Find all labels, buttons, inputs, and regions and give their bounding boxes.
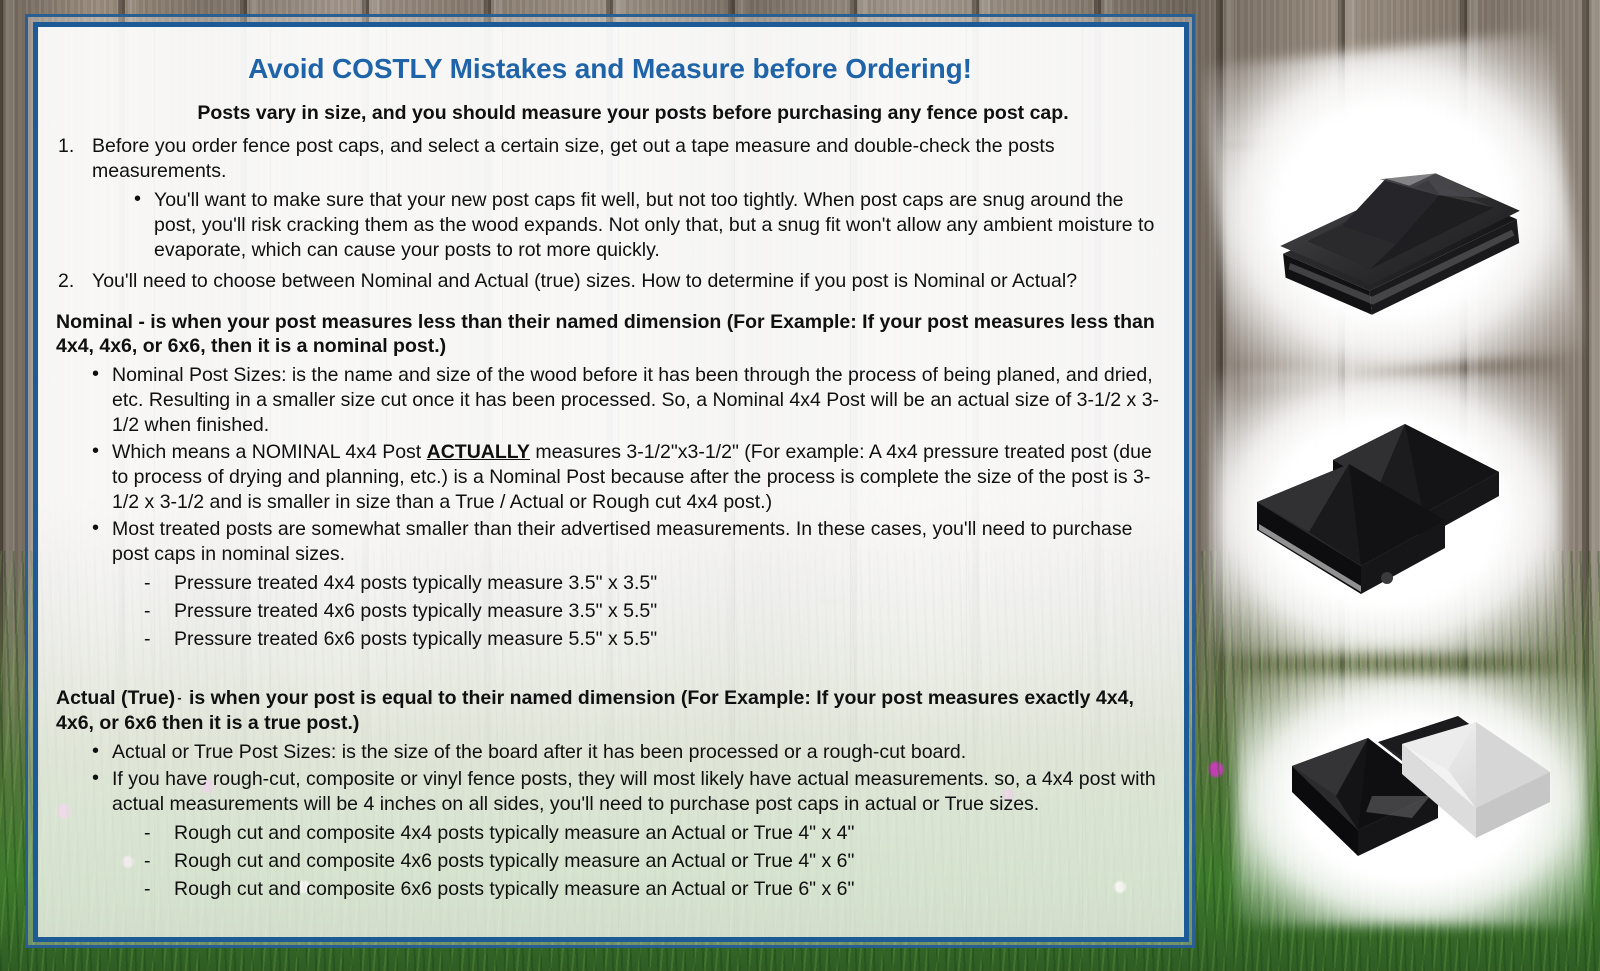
list-item: • Nominal Post Sizes: is the name and si… bbox=[50, 363, 1170, 438]
list-marker: 1. bbox=[58, 134, 88, 159]
list-item: • Most treated posts are somewhat smalle… bbox=[50, 517, 1170, 567]
actual-heading-lead: Actual (True) bbox=[56, 687, 175, 709]
black-pyramid-post-caps-icon bbox=[1237, 398, 1537, 628]
bullet-dot-icon: • bbox=[92, 739, 99, 765]
list-item: - Rough cut and composite 6x6 posts typi… bbox=[50, 877, 1170, 902]
dash-text: Rough cut and composite 6x6 posts typica… bbox=[174, 878, 854, 900]
bullet-text: Nominal Post Sizes: is the name and size… bbox=[112, 364, 1159, 436]
black-and-white-pyramid-caps-icon bbox=[1262, 700, 1562, 900]
product-photo-black-pyramid-caps bbox=[1237, 398, 1537, 628]
numbered-item-text: You'll need to choose between Nominal an… bbox=[92, 270, 1077, 292]
actual-heading: Actual (True)- is when your post is equa… bbox=[50, 686, 1170, 736]
list-item: - Rough cut and composite 4x4 posts typi… bbox=[50, 821, 1170, 846]
list-item: • If you have rough-cut, composite or vi… bbox=[50, 767, 1170, 817]
product-photo-black-white-pyramid-caps bbox=[1262, 700, 1562, 900]
document-content: Avoid COSTLY Mistakes and Measure before… bbox=[38, 27, 1184, 937]
nominal-bullet-list: • Nominal Post Sizes: is the name and si… bbox=[50, 363, 1170, 567]
actual-heading-rest: is when your post is equal to their name… bbox=[56, 687, 1134, 734]
infographic-stage: Avoid COSTLY Mistakes and Measure before… bbox=[0, 0, 1600, 971]
bullet-dot-icon: • bbox=[134, 187, 141, 213]
bullet-text-pre: Which means a NOMINAL 4x4 Post bbox=[112, 441, 427, 463]
nominal-heading: Nominal - is when your post measures les… bbox=[50, 310, 1170, 360]
numbered-list: 1. Before you order fence post caps, and… bbox=[50, 134, 1170, 294]
list-item: • Which means a NOMINAL 4x4 Post ACTUALL… bbox=[50, 440, 1170, 515]
list-item: • You'll want to make sure that your new… bbox=[92, 188, 1170, 263]
actual-heading-dash: - bbox=[175, 690, 183, 705]
bullet-text: You'll want to make sure that your new p… bbox=[154, 189, 1154, 261]
numbered-item-text: Before you order fence post caps, and se… bbox=[92, 135, 1055, 182]
sub-bullet-list: • You'll want to make sure that your new… bbox=[92, 188, 1170, 263]
dash-marker-icon: - bbox=[144, 571, 151, 596]
bullet-dot-icon: • bbox=[92, 439, 99, 465]
dash-text: Pressure treated 4x4 posts typically mea… bbox=[174, 572, 657, 594]
actually-emphasis: ACTUALLY bbox=[427, 441, 530, 463]
list-item: - Pressure treated 4x4 posts typically m… bbox=[50, 571, 1170, 596]
numbered-item-1: 1. Before you order fence post caps, and… bbox=[50, 134, 1170, 263]
list-item: - Rough cut and composite 4x6 posts typi… bbox=[50, 849, 1170, 874]
actual-dash-list: - Rough cut and composite 4x4 posts typi… bbox=[50, 821, 1170, 902]
list-item: • Actual or True Post Sizes: is the size… bbox=[50, 740, 1170, 765]
bullet-dot-icon: • bbox=[92, 766, 99, 792]
product-photo-black-flat-cap bbox=[1230, 59, 1557, 359]
list-marker: 2. bbox=[58, 269, 88, 294]
bullet-text: If you have rough-cut, composite or viny… bbox=[112, 768, 1156, 815]
dash-text: Pressure treated 4x6 posts typically mea… bbox=[174, 600, 657, 622]
dash-marker-icon: - bbox=[144, 849, 151, 874]
dash-text: Pressure treated 6x6 posts typically mea… bbox=[174, 628, 657, 650]
list-item: - Pressure treated 4x6 posts typically m… bbox=[50, 599, 1170, 624]
page-subtitle: Posts vary in size, and you should measu… bbox=[50, 101, 1170, 126]
numbered-item-2: 2. You'll need to choose between Nominal… bbox=[50, 269, 1170, 294]
bullet-text: Most treated posts are somewhat smaller … bbox=[112, 518, 1132, 565]
actual-bullet-list: • Actual or True Post Sizes: is the size… bbox=[50, 740, 1170, 817]
dash-text: Rough cut and composite 4x4 posts typica… bbox=[174, 822, 854, 844]
bullet-text: Actual or True Post Sizes: is the size o… bbox=[112, 741, 966, 763]
dash-text: Rough cut and composite 4x6 posts typica… bbox=[174, 850, 854, 872]
nominal-dash-list: - Pressure treated 4x4 posts typically m… bbox=[50, 571, 1170, 652]
bullet-dot-icon: • bbox=[92, 362, 99, 388]
bullet-dot-icon: • bbox=[92, 516, 99, 542]
list-item: - Pressure treated 6x6 posts typically m… bbox=[50, 627, 1170, 652]
dash-marker-icon: - bbox=[144, 627, 151, 652]
dash-marker-icon: - bbox=[144, 821, 151, 846]
inner-frame-border: Avoid COSTLY Mistakes and Measure before… bbox=[33, 22, 1189, 942]
dash-marker-icon: - bbox=[144, 599, 151, 624]
page-title: Avoid COSTLY Mistakes and Measure before… bbox=[50, 51, 1170, 87]
dash-marker-icon: - bbox=[144, 877, 151, 902]
black-flat-post-cap-icon bbox=[1230, 59, 1557, 359]
